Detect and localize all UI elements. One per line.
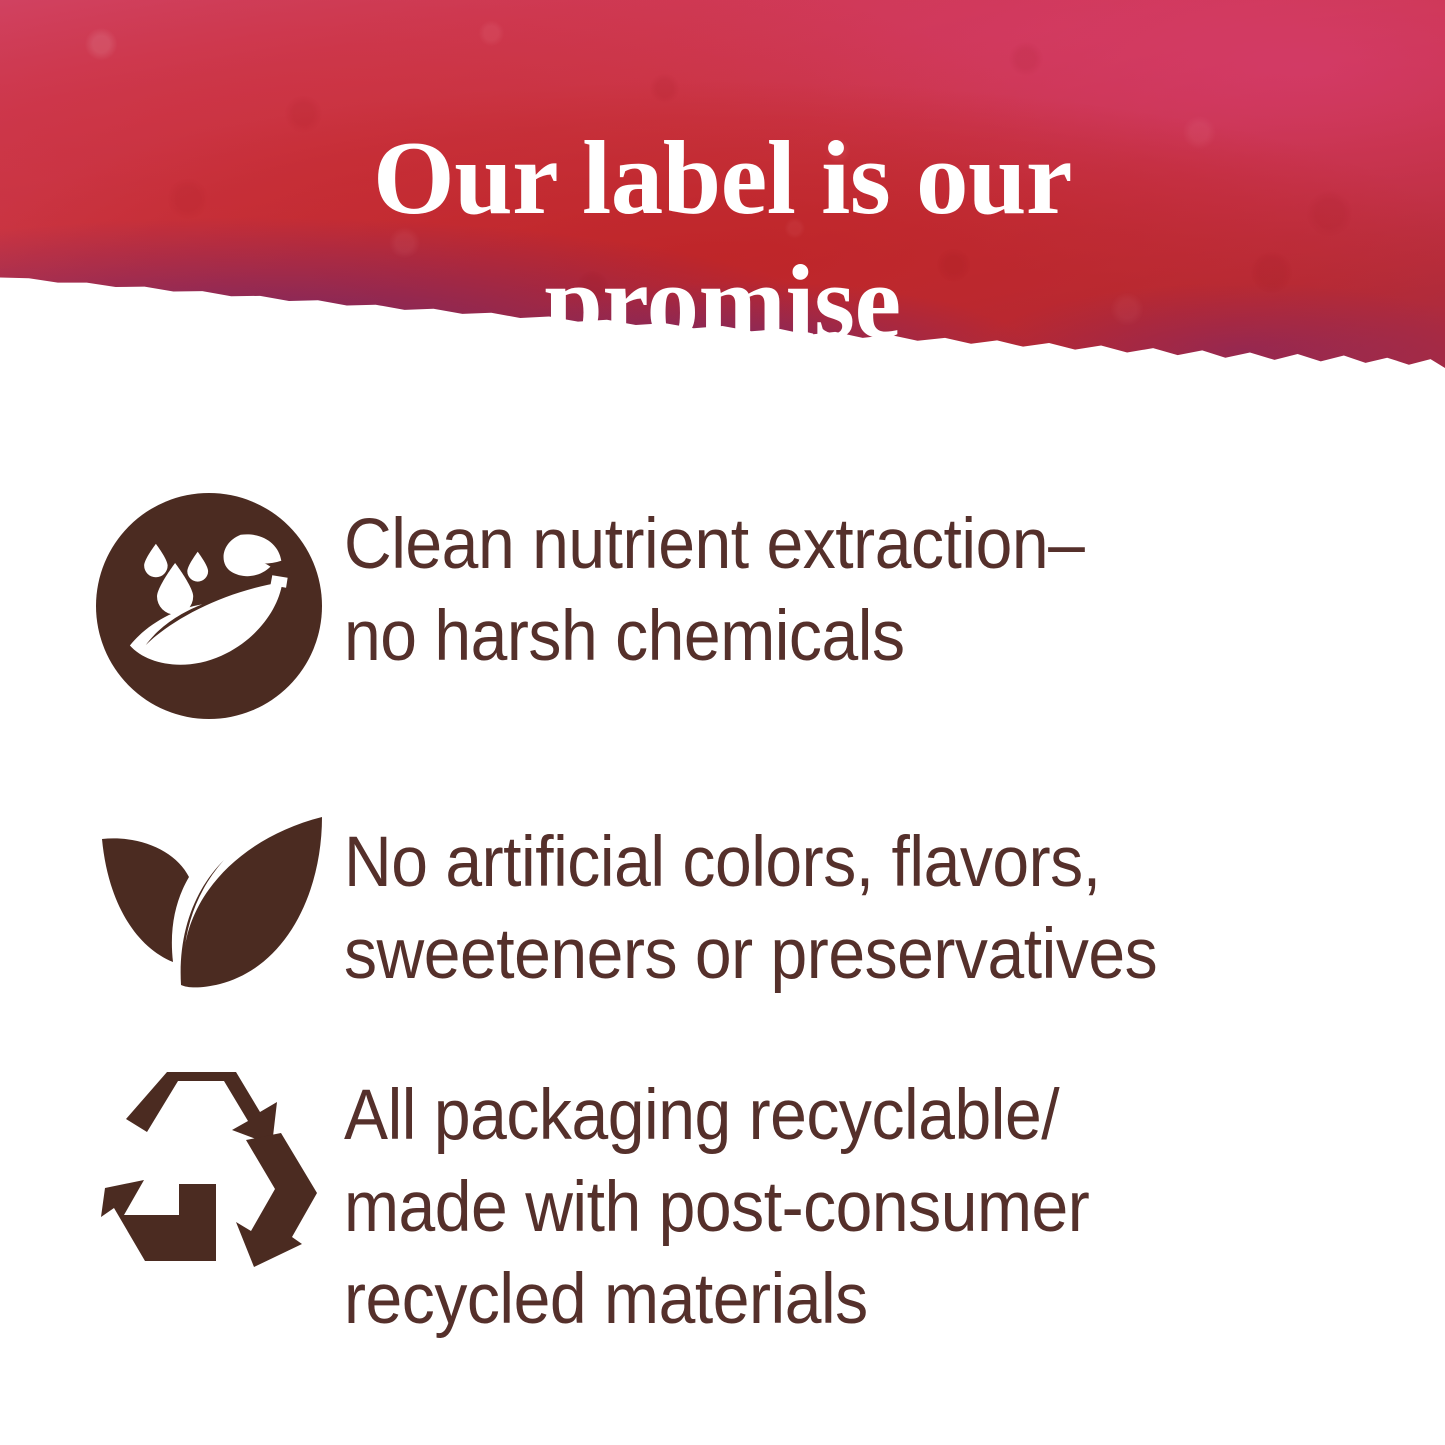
recycle-icon (96, 1064, 344, 1276)
leaf-droplet-circle-icon (96, 493, 344, 719)
page-title: Our label is our promise (0, 116, 1445, 364)
two-leaves-icon (96, 811, 344, 999)
list-item: No artificial colors, flavors, sweetener… (0, 811, 1445, 1002)
list-item-label: No artificial colors, flavors, sweetener… (344, 811, 1312, 1002)
list-item-label: All packaging recyclable/ made with post… (344, 1064, 1312, 1347)
promise-banner: Our label is our promise (0, 0, 1445, 368)
promise-list: Clean nutrient extraction– no harsh chem… (0, 368, 1445, 1346)
list-item-label: Clean nutrient extraction– no harsh chem… (344, 493, 1312, 684)
list-item: All packaging recyclable/ made with post… (0, 1064, 1445, 1347)
list-item: Clean nutrient extraction– no harsh chem… (0, 493, 1445, 719)
